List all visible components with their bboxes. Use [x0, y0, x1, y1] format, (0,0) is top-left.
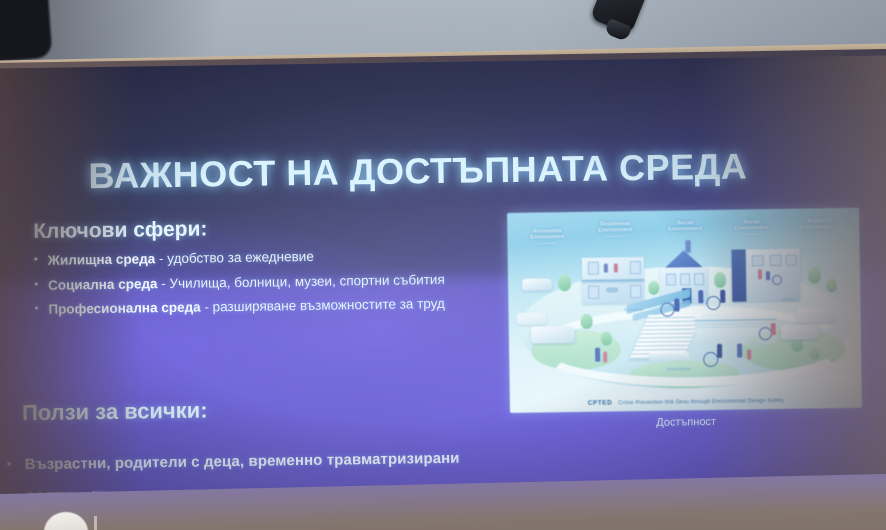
tree — [581, 314, 593, 329]
figure-assistant — [717, 344, 722, 358]
window — [630, 285, 641, 298]
label-social-environment-hospital: Social Environment Hospital — [719, 219, 783, 237]
window — [770, 255, 782, 266]
tree — [648, 281, 659, 295]
figure-assistant — [698, 290, 703, 303]
thin-pole — [94, 516, 97, 530]
cpted-footer: CPTEDCrime Prevention thik Desu through … — [510, 396, 862, 408]
cpted-expansion: Crime Prevention thik Desu through Envir… — [618, 398, 766, 406]
wheelchair-icon — [772, 275, 782, 285]
slide-title: ВАЖНОСТ НА ДОСТЪПНАТА СРЕДА — [88, 145, 809, 198]
hospital-wall — [732, 249, 747, 301]
label-line2: Environment — [668, 227, 702, 234]
benefits-heading: Ползи за всички: — [22, 397, 208, 426]
figure-assistant — [674, 298, 679, 311]
inline-label-mobility: Mobility — [758, 296, 818, 302]
bullet-rest: - удобство за ежедневие — [155, 249, 314, 266]
key-areas-heading: Ключови сфери: — [33, 217, 207, 244]
figure-person — [614, 263, 618, 272]
accessible-environment-illustration: Accessible Environment Accessible Reside… — [507, 208, 862, 413]
window — [630, 261, 641, 274]
ceiling-corner-fixture — [0, 0, 52, 62]
figure-person — [737, 344, 742, 358]
window — [680, 273, 690, 285]
accessibility-illustration-figure: Accessible Environment Accessible Reside… — [507, 208, 862, 413]
figure-person — [766, 271, 770, 280]
tree — [809, 346, 820, 359]
figure-person — [771, 323, 776, 335]
bullet-lead: Жилищна среда — [48, 251, 156, 268]
tree — [714, 272, 726, 288]
window — [752, 255, 764, 266]
inline-label-environment: Environment — [643, 366, 713, 372]
accessible-van — [781, 324, 819, 340]
label-sub: Hospital — [719, 232, 783, 237]
figure-person — [758, 269, 762, 279]
cpted-acronym: CPTED — [588, 399, 613, 406]
key-areas-list: Жилищна среда - удобство за ежедневие Со… — [32, 247, 473, 327]
label-sub: Accessible — [515, 241, 579, 246]
label-residential-environment: Residential Environment Environment — [583, 221, 647, 239]
tree — [601, 331, 612, 345]
projected-slide-photo: ВАЖНОСТ НА ДОСТЪПНАТА СРЕДА Ключови сфер… — [0, 0, 886, 530]
furniture-bed — [606, 287, 618, 292]
inline-label-accessible: Accessible — [598, 307, 668, 313]
cpted-tail: Safety — [767, 398, 784, 404]
figure-assistant — [720, 290, 725, 303]
label-sub: Interest Transfers — [785, 231, 849, 236]
window — [666, 273, 676, 285]
bullet-rest: - разширяване възможностите за труд — [201, 296, 445, 315]
bullet-rest: - Училища, болници, музеи, спортни събит… — [157, 271, 444, 290]
tree — [558, 274, 571, 291]
window — [694, 273, 704, 285]
car — [517, 312, 547, 324]
window — [786, 255, 797, 266]
label-accessible-environment: Accessible Environment Accessible — [515, 228, 579, 246]
window — [588, 262, 599, 275]
tree — [808, 266, 821, 283]
bench-platform — [649, 352, 689, 361]
chimney — [685, 240, 690, 252]
list-item: Жилищна среда - удобство за ежедневие — [32, 247, 472, 269]
figure-person — [595, 348, 600, 362]
label-bofeso-environment: Bofeso Environment Interest Transfers — [785, 218, 849, 236]
list-item: Социална среда - Училища, болници, музеи… — [32, 271, 472, 293]
window — [588, 286, 599, 299]
wheelchair — [706, 296, 720, 310]
accessible-van — [522, 278, 552, 290]
figure-child — [603, 352, 607, 363]
accessible-van — [531, 326, 575, 344]
accessible-van — [796, 308, 834, 324]
tree — [826, 278, 837, 292]
figure-person — [604, 264, 608, 273]
figure-child — [747, 349, 751, 359]
label-sub: Environment — [583, 234, 647, 239]
list-item: Професионална среда - разширяване възмож… — [32, 296, 472, 318]
bullet-lead: Социална среда — [48, 276, 158, 293]
slide-canvas: ВАЖНОСТ НА ДОСТЪПНАТА СРЕДА Ключови сфер… — [0, 55, 886, 500]
bullet-lead: Професионална среда — [48, 300, 200, 317]
label-social-environment: Social Environment — [653, 220, 717, 234]
